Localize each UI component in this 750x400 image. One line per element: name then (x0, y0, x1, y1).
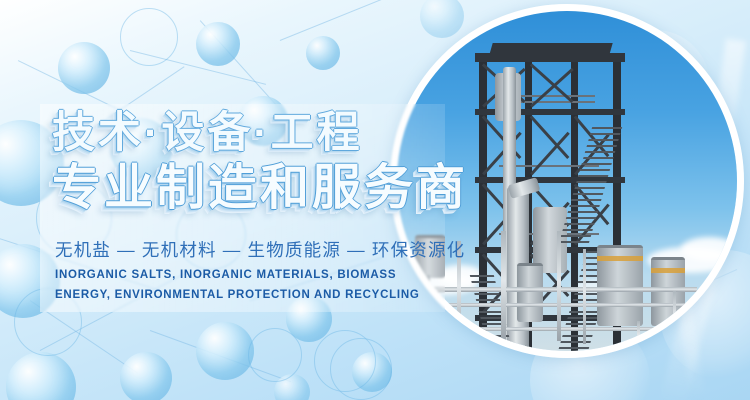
headline-block: 技术·设备·工程 专业制造和服务商 (52, 112, 482, 213)
subtitle-chinese: 无机盐 — 无机材料 — 生物质能源 — 环保资源化 (55, 237, 465, 262)
molecule-atom-icon (196, 322, 254, 380)
headline-line-1: 技术·设备·工程 (52, 112, 482, 155)
molecule-ring-icon (330, 338, 392, 400)
molecule-ring-icon (248, 328, 302, 382)
molecule-atom-icon (306, 36, 340, 70)
molecule-bond-icon (280, 0, 383, 41)
molecule-atom-icon (58, 42, 110, 94)
hero-banner: 技术·设备·工程 专业制造和服务商 无机盐 — 无机材料 — 生物质能源 — 环… (0, 0, 750, 400)
molecule-atom-icon (120, 352, 172, 400)
headline-line-2: 专业制造和服务商 (52, 164, 482, 213)
molecule-ring-icon (120, 8, 178, 66)
molecule-atom-icon (196, 22, 240, 66)
subtitle-english: INORGANIC SALTS, INORGANIC MATERIALS, BI… (55, 265, 450, 305)
molecule-atom-icon (6, 352, 76, 400)
